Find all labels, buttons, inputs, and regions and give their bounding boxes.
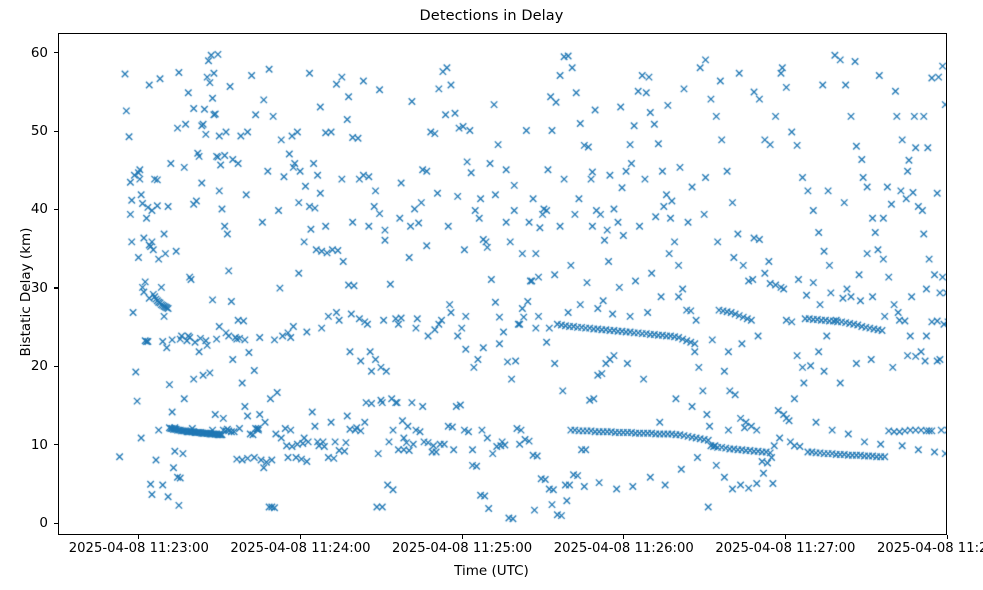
- x-tick-mark: [623, 535, 624, 539]
- x-tick-label: 2025-04-08 11:27:00: [715, 541, 855, 556]
- x-tick-label: 2025-04-08 11:24:00: [230, 541, 370, 556]
- x-tick-label: 2025-04-08 11:23:00: [69, 541, 209, 556]
- x-tick-mark: [138, 535, 139, 539]
- x-tick-label: 2025-04-08 11:28:00: [877, 541, 983, 556]
- x-tick-mark: [300, 535, 301, 539]
- y-tick-label: 50: [0, 123, 48, 139]
- x-tick-mark: [462, 535, 463, 539]
- y-tick-label: 10: [0, 437, 48, 453]
- x-tick-mark: [785, 535, 786, 539]
- x-tick-label: 2025-04-08 11:26:00: [554, 541, 694, 556]
- scatter-plot-canvas: [59, 34, 947, 535]
- x-tick-label: 2025-04-08 11:25:00: [392, 541, 532, 556]
- page-title: Detections in Delay: [0, 8, 983, 24]
- plot-axes: [58, 33, 947, 535]
- matplotlib-figure: Detections in Delay 0102030405060 2025-0…: [0, 0, 983, 590]
- y-tick-label: 60: [0, 45, 48, 61]
- y-axis-label: Bistatic Delay (km): [18, 192, 34, 392]
- x-axis-label: Time (UTC): [0, 563, 983, 579]
- y-tick-label: 0: [0, 515, 48, 531]
- x-tick-mark: [947, 535, 948, 539]
